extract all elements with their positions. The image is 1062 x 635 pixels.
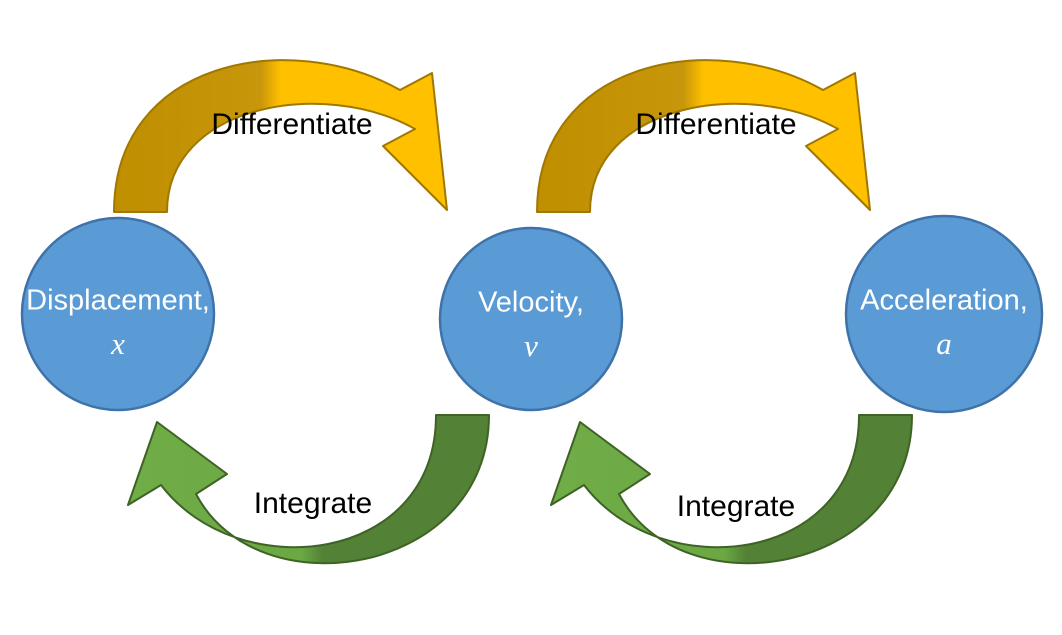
diagram-canvas: Displacement, x Velocity, v Acceleration…	[0, 0, 1062, 635]
edge-label-differentiate-2: Differentiate	[635, 108, 796, 141]
kinematics-diagram: Displacement, x Velocity, v Acceleration…	[0, 0, 1062, 635]
node-displacement[interactable]: Displacement, x	[22, 218, 214, 410]
edge-label-differentiate-1: Differentiate	[211, 108, 372, 141]
acceleration-label: Acceleration,	[860, 285, 1028, 317]
displacement-symbol: x	[110, 326, 125, 361]
displacement-label: Displacement,	[26, 285, 210, 317]
edge-label-integrate-2: Integrate	[677, 490, 795, 523]
node-velocity[interactable]: Velocity, v	[440, 228, 622, 410]
acceleration-symbol: a	[936, 326, 952, 361]
velocity-label: Velocity,	[478, 287, 584, 319]
velocity-circle	[440, 228, 622, 410]
velocity-symbol: v	[524, 328, 538, 363]
node-acceleration[interactable]: Acceleration, a	[846, 216, 1042, 412]
edge-label-integrate-1: Integrate	[254, 487, 372, 520]
